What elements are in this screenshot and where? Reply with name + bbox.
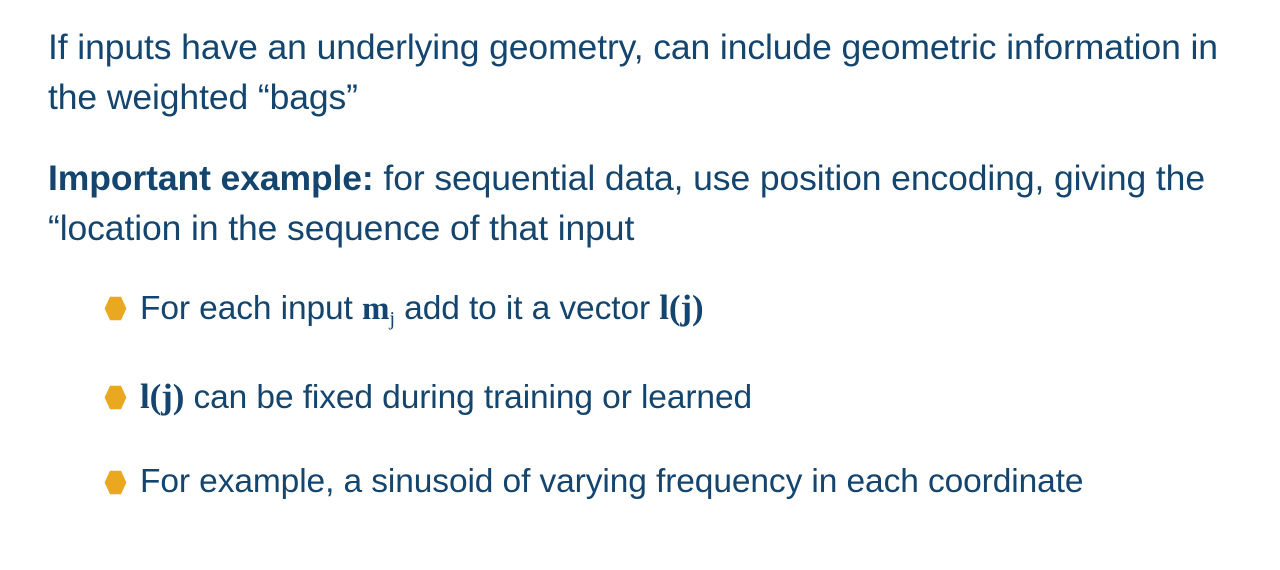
list-item-text-part-2: add to it a vector [395,290,659,327]
hexagon-bullet-icon [104,470,127,495]
hexagon-bullet-icon [104,385,127,410]
list-item-text: For example, a sinusoid of varying frequ… [140,463,1083,500]
list-item: For each input mj add to it a vector l(j… [48,285,1210,336]
bullet-list: For each input mj add to it a vector l(j… [48,285,1240,505]
list-item-text-part-1: For each input [140,290,362,327]
variable-subscript-j: j [389,308,395,330]
important-example-label: Important example: [48,158,374,198]
list-item: For example, a sinusoid of varying frequ… [48,459,1210,505]
variable-m: m [362,291,389,327]
hexagon-bullet-icon [104,296,127,321]
slide-body: If inputs have an underlying geometry, c… [0,0,1280,570]
list-item: l(j) can be fixed during training or lea… [48,374,1210,421]
paragraph-geometry: If inputs have an underlying geometry, c… [48,22,1238,122]
paragraph-geometry-text: If inputs have an underlying geometry, c… [48,27,1218,117]
variable-m-subscript-j: mj [362,291,395,327]
function-l-of-j: l(j) [659,288,703,327]
list-item-text: can be fixed during training or learned [184,379,752,416]
function-l-of-j: l(j) [140,377,184,416]
paragraph-important-example: Important example: for sequential data, … [48,153,1240,253]
